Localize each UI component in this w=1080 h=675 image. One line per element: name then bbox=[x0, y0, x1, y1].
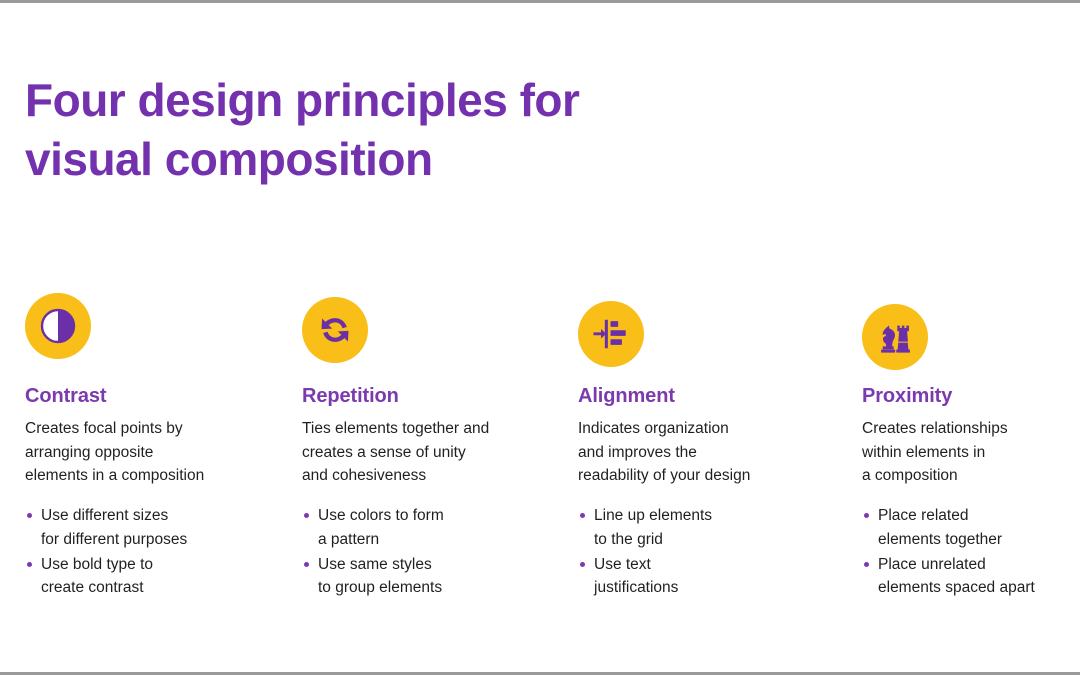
principle-heading: Contrast bbox=[25, 385, 275, 408]
slide-canvas: Four design principles for visual compos… bbox=[0, 0, 1080, 675]
principle-bullet-list: Use colors to form a pattern Use same st… bbox=[302, 504, 552, 600]
principles-grid: Contrast Creates focal points by arrangi… bbox=[0, 286, 1080, 616]
repetition-icon-badge bbox=[302, 297, 368, 363]
principle-bullet-list: Place related elements together Place un… bbox=[862, 504, 1072, 600]
list-item: Use text justifications bbox=[578, 553, 828, 600]
proximity-chess-pieces-icon bbox=[875, 318, 915, 356]
page-title: Four design principles for visual compos… bbox=[25, 71, 725, 189]
principle-description: Creates focal points by arranging opposi… bbox=[25, 417, 275, 488]
list-item: Use colors to form a pattern bbox=[302, 504, 552, 551]
list-item: Place unrelated elements spaced apart bbox=[862, 553, 1072, 600]
principle-card-contrast: Contrast Creates focal points by arrangi… bbox=[25, 286, 275, 601]
alignment-align-left-icon bbox=[591, 315, 631, 353]
list-item: Place related elements together bbox=[862, 504, 1072, 551]
principle-card-repetition: Repetition Ties elements together and cr… bbox=[302, 286, 552, 601]
principle-bullet-list: Line up elements to the grid Use text ju… bbox=[578, 504, 828, 600]
principle-card-proximity: Proximity Creates relationships within e… bbox=[862, 286, 1072, 601]
principle-heading: Alignment bbox=[578, 385, 828, 408]
principle-bullet-list: Use different sizes for different purpos… bbox=[25, 504, 275, 600]
list-item: Use same styles to group elements bbox=[302, 553, 552, 600]
principle-description: Creates relationships within elements in… bbox=[862, 417, 1072, 488]
list-item: Use different sizes for different purpos… bbox=[25, 504, 275, 551]
alignment-icon-badge bbox=[578, 301, 644, 367]
proximity-icon-badge bbox=[862, 304, 928, 370]
list-item: Line up elements to the grid bbox=[578, 504, 828, 551]
principle-heading: Proximity bbox=[862, 385, 1072, 408]
repetition-cycle-arrows-icon bbox=[316, 311, 354, 349]
principle-description: Ties elements together and creates a sen… bbox=[302, 417, 552, 488]
contrast-icon-badge bbox=[25, 293, 91, 359]
principle-card-alignment: Alignment Indicates organization and imp… bbox=[578, 286, 828, 601]
principle-description: Indicates organization and improves the … bbox=[578, 417, 828, 488]
contrast-icon bbox=[39, 307, 77, 345]
principle-heading: Repetition bbox=[302, 385, 552, 408]
list-item: Use bold type to create contrast bbox=[25, 553, 275, 600]
